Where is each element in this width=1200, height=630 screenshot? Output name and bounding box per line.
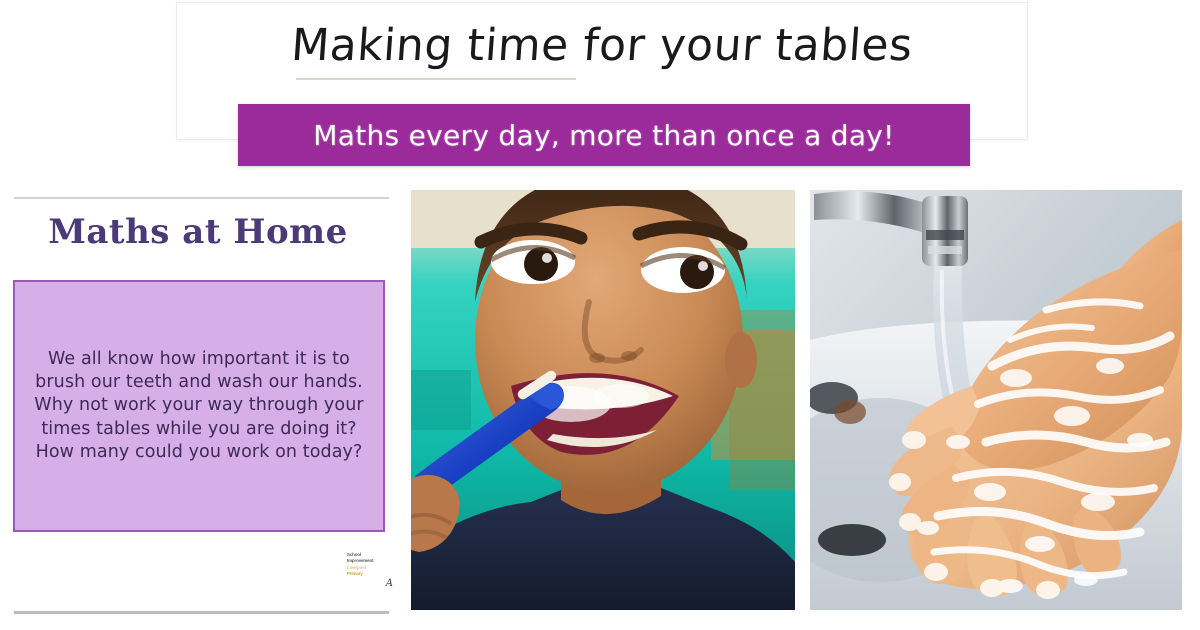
subtitle-banner: Maths every day, more than once a day! xyxy=(238,104,970,166)
logo-line-4: Primary xyxy=(347,571,393,577)
header-area: Making time for your tables Maths every … xyxy=(0,0,1200,190)
maths-at-home-panel: Maths at Home We all know how important … xyxy=(0,190,396,630)
boy-brushing-teeth-illustration xyxy=(411,190,795,610)
photo-hands-washing xyxy=(810,190,1182,610)
school-improvement-logo: School Improvement Liverpool Primary A xyxy=(347,552,393,590)
panel-heading: Maths at Home xyxy=(0,212,396,252)
photo-boy-brushing-teeth xyxy=(411,190,795,610)
page-title: Making time for your tables xyxy=(174,20,1030,71)
subtitle-text: Maths every day, more than once a day! xyxy=(313,119,894,152)
info-text: We all know how important it is to brush… xyxy=(27,348,371,464)
panel-bottom-divider xyxy=(14,611,389,614)
info-box: We all know how important it is to brush… xyxy=(13,280,385,532)
hands-washing-illustration xyxy=(810,190,1182,610)
content-row: Maths at Home We all know how important … xyxy=(0,190,1200,630)
panel-top-divider xyxy=(14,197,389,199)
logo-mark: A xyxy=(386,578,393,589)
title-underline xyxy=(296,78,576,80)
